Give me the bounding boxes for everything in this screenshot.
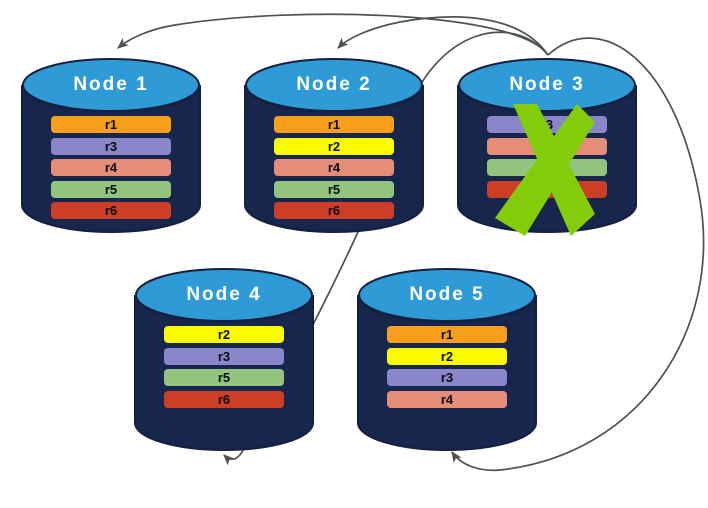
replica-bar[interactable]: r6 <box>164 391 284 408</box>
replica-bar[interactable]: r6 <box>51 202 171 219</box>
node-1[interactable]: Node 1r1r3r4r5r6 <box>22 58 200 232</box>
replica-bar[interactable]: r2 <box>164 326 284 343</box>
replica-list: r1r3r4r5r6 <box>22 58 200 232</box>
replica-bar[interactable]: r2 <box>387 348 507 365</box>
edge-node3-to-node1 <box>118 14 548 55</box>
replica-bar[interactable]: r3 <box>164 348 284 365</box>
edge-node3-to-node2 <box>338 17 548 55</box>
replica-bar[interactable]: r3 <box>51 138 171 155</box>
replica-list: r1r2r3r4 <box>358 268 536 450</box>
node-4[interactable]: Node 4r2r3r5r6 <box>135 268 313 450</box>
replica-bar[interactable]: r5 <box>274 181 394 198</box>
node-5[interactable]: Node 5r1r2r3r4 <box>358 268 536 450</box>
replica-bar[interactable]: r4 <box>274 159 394 176</box>
replica-bar[interactable]: r5 <box>51 181 171 198</box>
node-failed-x-icon <box>495 104 595 236</box>
replica-bar[interactable]: r1 <box>51 116 171 133</box>
replica-list: r2r3r5r6 <box>135 268 313 450</box>
replica-list: r1r2r4r5r6 <box>245 58 423 232</box>
replica-bar[interactable]: r4 <box>387 391 507 408</box>
replica-bar[interactable]: r5 <box>164 369 284 386</box>
replica-bar[interactable]: r4 <box>51 159 171 176</box>
replica-bar[interactable]: r6 <box>274 202 394 219</box>
replica-bar[interactable]: r1 <box>387 326 507 343</box>
node-2[interactable]: Node 2r1r2r4r5r6 <box>245 58 423 232</box>
replica-bar[interactable]: r1 <box>274 116 394 133</box>
diagram-canvas: Node 1r1r3r4r5r6Node 2r1r2r4r5r6Node 3r3… <box>0 0 708 508</box>
node-3[interactable]: Node 3r3r4r5r6 <box>458 58 636 232</box>
replica-bar[interactable]: r3 <box>387 369 507 386</box>
replica-bar[interactable]: r2 <box>274 138 394 155</box>
